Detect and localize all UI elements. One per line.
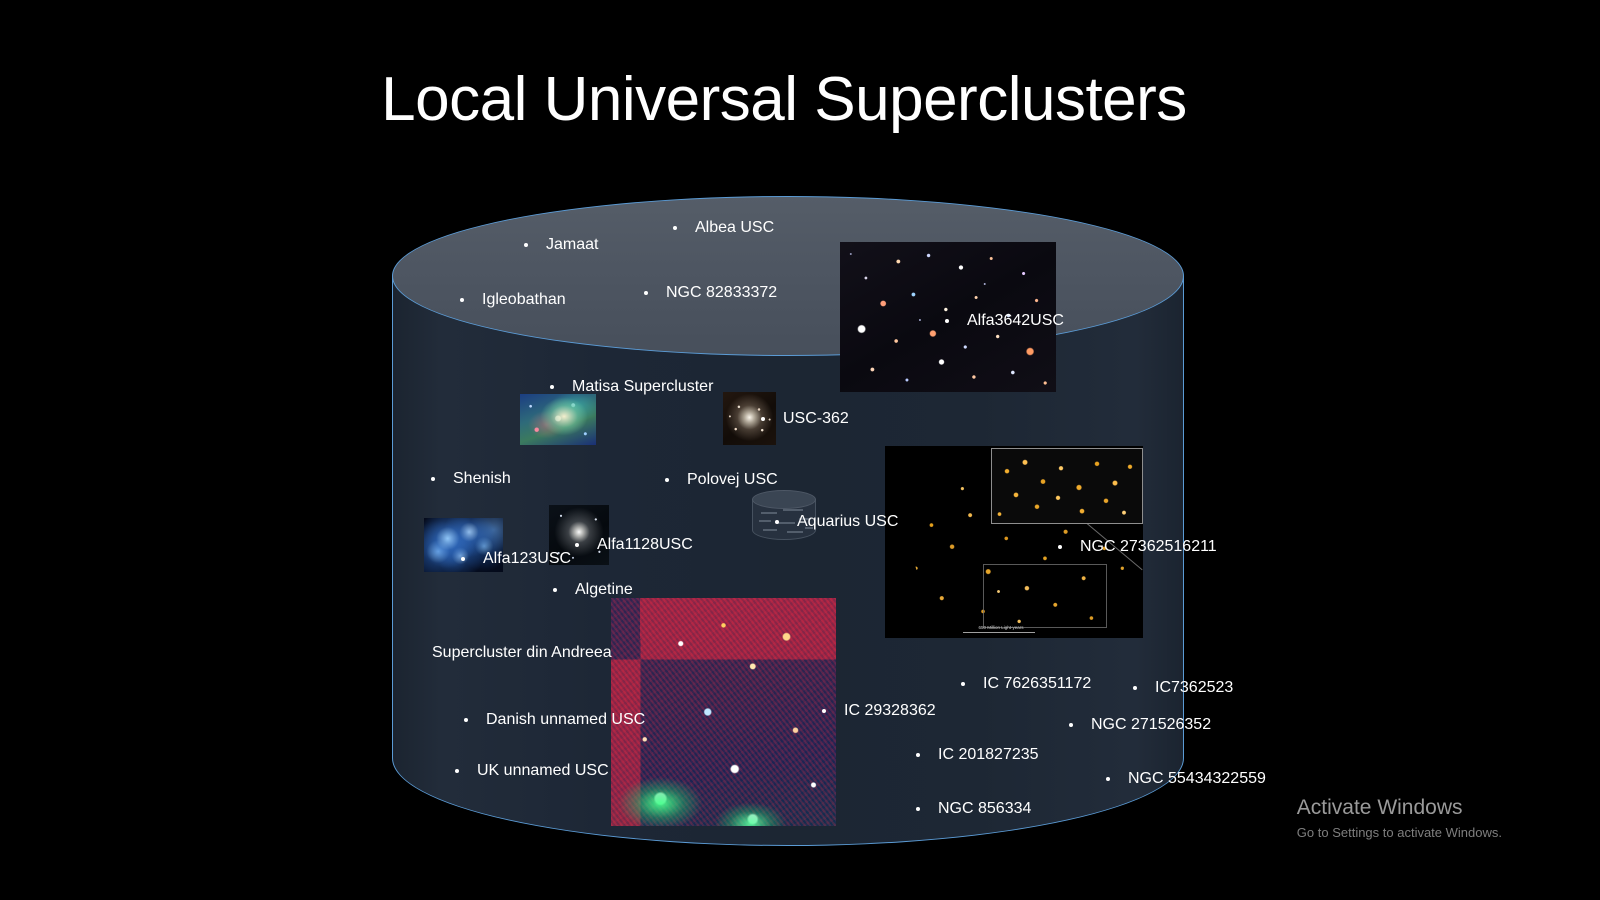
node-label: Danish unnamed USC: [486, 712, 645, 728]
survey-scale-bar: [963, 632, 1035, 633]
bullet-icon: [961, 682, 965, 686]
node-aquarius-usc[interactable]: Aquarius USC: [775, 514, 898, 530]
node-label: Supercluster din Andreea: [432, 645, 612, 661]
slide-canvas: Local Universal Superclusters 650 Millio…: [0, 0, 1600, 900]
node-label: Jamaat: [546, 237, 598, 253]
node-label: NGC 55434322559: [1128, 771, 1266, 787]
survey-scale-label: 650 Million Light-years: [951, 625, 1051, 630]
bullet-icon: [575, 543, 579, 547]
node-alfa1128usc[interactable]: Alfa1128USC: [575, 537, 693, 553]
node-label: IC 7626351172: [983, 676, 1091, 692]
bullet-icon: [431, 477, 435, 481]
node-label: NGC 271526352: [1091, 717, 1211, 733]
watermark-title: Activate Windows: [1297, 795, 1502, 820]
database-top-ellipse: [752, 490, 816, 509]
node-ic-29328362[interactable]: IC 29328362: [822, 703, 936, 719]
node-label: NGC 82833372: [666, 285, 777, 301]
node-label: Polovej USC: [687, 472, 778, 488]
node-ngc-55434322559[interactable]: NGC 55434322559: [1106, 771, 1266, 787]
node-label: Alfa1128USC: [597, 537, 693, 553]
bullet-icon: [916, 753, 920, 757]
node-label: Shenish: [453, 471, 511, 487]
node-label: Aquarius USC: [797, 514, 898, 530]
node-label: Algetine: [575, 582, 633, 598]
bullet-icon: [455, 769, 459, 773]
node-alfa3642usc[interactable]: Alfa3642USC: [945, 313, 1064, 329]
node-danish-unnamed-usc[interactable]: Danish unnamed USC: [464, 712, 645, 728]
survey-inset-zoom: [991, 448, 1143, 524]
bullet-icon: [673, 226, 677, 230]
nebula-image[interactable]: [520, 394, 596, 445]
bullet-icon: [1133, 686, 1137, 690]
node-algetine[interactable]: Algetine: [553, 582, 633, 598]
node-label: Igleobathan: [482, 292, 566, 308]
node-label: Alfa123USC: [483, 551, 571, 567]
node-ic-201827235[interactable]: IC 201827235: [916, 747, 1039, 763]
node-jamaat[interactable]: Jamaat: [524, 237, 598, 253]
node-shenish[interactable]: Shenish: [431, 471, 511, 487]
bullet-icon: [945, 319, 949, 323]
node-label: IC 201827235: [938, 747, 1039, 763]
node-ngc-271526352[interactable]: NGC 271526352: [1069, 717, 1211, 733]
node-alfa123usc[interactable]: Alfa123USC: [461, 551, 571, 567]
page-title: Local Universal Superclusters: [0, 66, 1568, 134]
node-label: IC 29328362: [844, 703, 936, 719]
bullet-icon: [460, 298, 464, 302]
node-label: Alfa3642USC: [967, 313, 1064, 329]
node-ngc-82833372[interactable]: NGC 82833372: [644, 285, 777, 301]
node-label: USC-362: [783, 411, 849, 427]
bullet-icon: [1058, 545, 1062, 549]
node-label: Albea USC: [695, 220, 774, 236]
bullet-icon: [550, 385, 554, 389]
node-ic7362523[interactable]: IC7362523: [1133, 680, 1233, 696]
bullet-icon: [553, 588, 557, 592]
bullet-icon: [644, 291, 648, 295]
bullet-icon: [822, 709, 826, 713]
bullet-icon: [761, 417, 765, 421]
node-usc-362[interactable]: USC-362: [761, 411, 849, 427]
bullet-icon: [1106, 777, 1110, 781]
node-label: UK unnamed USC: [477, 763, 609, 779]
bullet-icon: [916, 807, 920, 811]
activate-windows-watermark: Activate Windows Go to Settings to activ…: [1297, 795, 1502, 840]
node-label: NGC 27362516211: [1080, 539, 1217, 555]
node-ic-7626351172[interactable]: IC 7626351172: [961, 676, 1091, 692]
bullet-icon: [1069, 723, 1073, 727]
bullet-icon: [464, 718, 468, 722]
node-uk-unnamed-usc[interactable]: UK unnamed USC: [455, 763, 609, 779]
bullet-icon: [524, 243, 528, 247]
node-albea-usc[interactable]: Albea USC: [673, 220, 774, 236]
node-ngc-856334[interactable]: NGC 856334: [916, 801, 1031, 817]
watermark-subtitle: Go to Settings to activate Windows.: [1297, 825, 1502, 840]
node-matisa-supercluster[interactable]: Matisa Supercluster: [550, 379, 713, 395]
cylinder-top-ellipse: [392, 196, 1184, 356]
bullet-icon: [461, 557, 465, 561]
node-ngc-27362516211[interactable]: NGC 27362516211: [1058, 539, 1217, 555]
survey-inset-source-box: [983, 564, 1107, 628]
node-supercluster-din-andreea[interactable]: Supercluster din Andreea: [432, 645, 612, 661]
node-label: IC7362523: [1155, 680, 1233, 696]
bullet-icon: [665, 478, 669, 482]
bullet-icon: [775, 520, 779, 524]
node-polovej-usc[interactable]: Polovej USC: [665, 472, 778, 488]
node-igleobathan[interactable]: Igleobathan: [460, 292, 566, 308]
node-label: Matisa Supercluster: [572, 379, 713, 395]
node-label: NGC 856334: [938, 801, 1031, 817]
